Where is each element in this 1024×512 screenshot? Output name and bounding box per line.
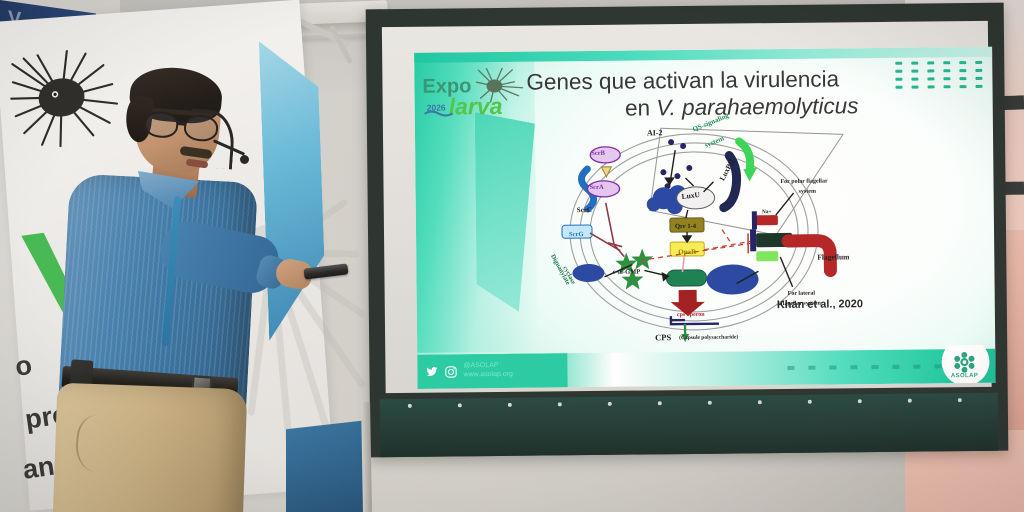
diagram-label: CpsQ [672, 276, 689, 284]
diagram-label: (Capsule polysaccharide) [679, 334, 738, 341]
diagram-label: ScrG [569, 231, 584, 238]
diagram-label: system [799, 189, 816, 195]
diagram-label: Na+ [762, 209, 772, 215]
social-handle-line-2: www.asolap.org [463, 371, 513, 380]
slide-title-line-1: Genes que activan la virulencia [526, 66, 839, 94]
expo-larva-logo: Expo larva 2026 [422, 68, 537, 121]
projection-screen: Expo larva 2026 Genes que activan la vir… [366, 3, 1009, 458]
presentation-photo-scene: V V o prod [0, 0, 1024, 512]
slide-title-line-2-prefix: en [625, 95, 657, 120]
diagram-label: AI-2 [647, 128, 663, 137]
presentation-slide: Expo larva 2026 Genes que activan la vir… [414, 47, 995, 389]
diagram-label: OpaR [678, 248, 696, 256]
instagram-icon [444, 365, 457, 378]
screen-skirt [380, 393, 999, 457]
svg-text:larva: larva [449, 93, 503, 120]
presenter [40, 70, 310, 512]
slide-citation: Khan et al., 2020 [777, 298, 863, 311]
diagram-label: Flagellum [817, 252, 849, 261]
diagram-label: ScrA [590, 184, 604, 191]
slide-footer-social: @ASOLAP www.asolap.org [417, 353, 567, 389]
diagram-label: cps operon [677, 312, 705, 318]
diagram-label: ScrC [577, 206, 592, 214]
slide-top-bar [414, 47, 992, 63]
asolap-label: ASOLAP [951, 373, 978, 379]
projection-surface: Expo larva 2026 Genes que activan la vir… [382, 21, 992, 393]
diagram-label: c-di-GMP [612, 268, 640, 275]
diagram-label: CPS [655, 332, 671, 342]
asolap-mark-icon [953, 351, 975, 373]
screen-stand-leg [361, 402, 372, 512]
diagram-label: For polar flagellar [780, 179, 827, 185]
asolap-logo: ASOLAP [935, 345, 993, 386]
banner-text-line-1: o [13, 350, 34, 383]
social-handle: @ASOLAP www.asolap.org [463, 362, 513, 380]
headset-mic-tip [240, 155, 249, 164]
slide-footer: @ASOLAP www.asolap.org [417, 349, 995, 389]
twitter-icon [425, 366, 438, 378]
slide-title-species: V. parahaemolyticus [656, 93, 858, 120]
diagram-label: For lateral [788, 291, 815, 297]
diagram-label: Qrr 1-4 [675, 223, 696, 230]
slide-dot-pattern [895, 61, 982, 89]
diagram-label: ScrB [591, 150, 605, 157]
glasses-lens-left [143, 110, 179, 139]
